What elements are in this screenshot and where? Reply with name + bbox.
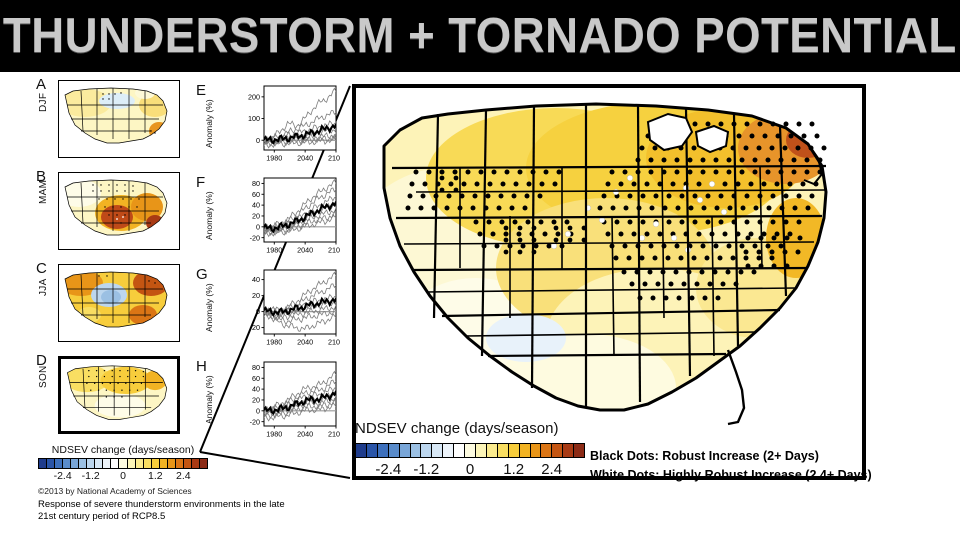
ts-ylabel-h: Anomaly (%) — [204, 375, 214, 424]
svg-text:20: 20 — [252, 291, 260, 300]
season-panel-mam[interactable]: B MAM — [36, 170, 186, 254]
timeseries-panel-g[interactable]: G Anomaly (%) -2002040198020402100 — [196, 260, 341, 352]
colorbar-tick-2: 0 — [120, 470, 126, 482]
colorbar-swatch-12 — [487, 444, 498, 457]
ts-plot-e: 0100200198020402100 — [234, 80, 340, 168]
colorbar-tick-1: -1.2 — [82, 470, 100, 482]
caption-line-2: 21st century period of RCP8.5 — [38, 511, 338, 523]
panel-letter-a: A — [36, 76, 46, 93]
colorbar-swatch-8 — [103, 459, 111, 468]
mini-map-jja[interactable] — [58, 264, 180, 342]
svg-text:80: 80 — [252, 363, 260, 372]
svg-text:20: 20 — [252, 396, 260, 405]
ts-letter-h: H — [196, 358, 207, 375]
colorbar-tick-1: -1.2 — [413, 461, 439, 478]
colorbar-swatch-6 — [421, 444, 432, 457]
colorbar-swatch-4 — [71, 459, 79, 468]
svg-text:40: 40 — [252, 201, 260, 210]
legend-black-dots: Black Dots: Robust Increase (2+ Days) — [590, 447, 920, 466]
colorbar-swatch-5 — [79, 459, 87, 468]
svg-text:2040: 2040 — [297, 430, 313, 439]
colorbar-swatch-18 — [552, 444, 563, 457]
svg-text:2040: 2040 — [297, 338, 313, 347]
small-colorbar: NDSEV change (days/season) -2.4-1.201.22… — [38, 444, 208, 484]
colorbar-swatch-18 — [184, 459, 192, 468]
legend-white-dots: White Dots: Highly Robust Increase (2.4+… — [590, 466, 920, 485]
colorbar-swatch-20 — [574, 444, 584, 457]
season-panel-djf[interactable]: A DJF — [36, 78, 186, 162]
small-colorbar-ticks: -2.4-1.201.22.4 — [38, 470, 208, 484]
usa-map-mam — [59, 173, 179, 249]
colorbar-swatch-1 — [367, 444, 378, 457]
svg-text:0: 0 — [256, 222, 260, 231]
panel-letter-c: C — [36, 260, 47, 277]
colorbar-swatch-9 — [111, 459, 119, 468]
colorbar-swatch-2 — [378, 444, 389, 457]
svg-text:20: 20 — [252, 212, 260, 221]
colorbar-swatch-15 — [160, 459, 168, 468]
colorbar-tick-0: -2.4 — [54, 470, 72, 482]
ts-letter-f: F — [196, 174, 205, 191]
svg-text:80: 80 — [252, 179, 260, 188]
colorbar-swatch-1 — [47, 459, 55, 468]
copyright-text: ©2013 by National Academy of Sciences — [38, 486, 338, 496]
season-label-son: SON — [38, 365, 49, 388]
colorbar-swatch-14 — [509, 444, 520, 457]
main-colorbar-strip — [355, 443, 585, 458]
colorbar-swatch-12 — [136, 459, 144, 468]
ts-plot-h: -20020406080198020402100 — [234, 356, 340, 444]
colorbar-swatch-17 — [541, 444, 552, 457]
colorbar-swatch-19 — [563, 444, 574, 457]
colorbar-swatch-19 — [192, 459, 200, 468]
svg-text:1980: 1980 — [266, 154, 282, 163]
colorbar-swatch-7 — [95, 459, 103, 468]
colorbar-swatch-16 — [531, 444, 542, 457]
svg-text:60: 60 — [252, 190, 260, 199]
colorbar-swatch-0 — [356, 444, 367, 457]
season-panel-jja[interactable]: C JJA — [36, 262, 186, 346]
small-colorbar-title: NDSEV change (days/season) — [38, 444, 208, 456]
page-title: THUNDERSTORM + TORNADO POTENTIAL — [3, 8, 957, 64]
colorbar-tick-3: 1.2 — [503, 461, 524, 478]
svg-text:1980: 1980 — [266, 430, 282, 439]
ts-plot-f: -20020406080198020402100 — [234, 172, 340, 260]
colorbar-swatch-4 — [400, 444, 411, 457]
colorbar-swatch-20 — [200, 459, 207, 468]
ts-ylabel-e: Anomaly (%) — [204, 99, 214, 148]
ts-ylabel-f: Anomaly (%) — [204, 191, 214, 240]
season-panel-son[interactable]: D SON — [36, 354, 186, 442]
usa-map-large — [356, 88, 862, 476]
svg-text:200: 200 — [248, 92, 260, 101]
colorbar-swatch-6 — [87, 459, 95, 468]
usa-map-djf — [59, 81, 179, 157]
colorbar-swatch-15 — [520, 444, 531, 457]
colorbar-swatch-14 — [152, 459, 160, 468]
colorbar-swatch-10 — [119, 459, 127, 468]
figure-body: A DJF — [0, 72, 960, 540]
colorbar-swatch-11 — [128, 459, 136, 468]
svg-text:-20: -20 — [250, 417, 260, 426]
mini-map-djf[interactable] — [58, 80, 180, 158]
svg-text:2040: 2040 — [297, 246, 313, 255]
colorbar-swatch-0 — [39, 459, 47, 468]
colorbar-swatch-10 — [465, 444, 476, 457]
caption-block: ©2013 by National Academy of Sciences Re… — [38, 486, 338, 523]
svg-text:100: 100 — [248, 114, 260, 123]
colorbar-swatch-13 — [144, 459, 152, 468]
svg-text:1980: 1980 — [266, 338, 282, 347]
svg-text:0: 0 — [256, 136, 260, 145]
colorbar-swatch-3 — [389, 444, 400, 457]
small-colorbar-strip — [38, 458, 208, 469]
svg-text:-20: -20 — [250, 323, 260, 332]
svg-text:60: 60 — [252, 374, 260, 383]
ts-ylabel-g: Anomaly (%) — [204, 283, 214, 332]
main-colorbar-title: NDSEV change (days/season) — [355, 420, 585, 437]
season-label-djf: DJF — [38, 93, 49, 112]
colorbar-swatch-9 — [454, 444, 465, 457]
colorbar-swatch-7 — [432, 444, 443, 457]
colorbar-tick-2: 0 — [466, 461, 474, 478]
title-banner: THUNDERSTORM + TORNADO POTENTIAL — [0, 0, 960, 72]
svg-text:2100: 2100 — [328, 338, 340, 347]
svg-text:2100: 2100 — [328, 246, 340, 255]
timeseries-panel-h[interactable]: H Anomaly (%) -20020406080198020402100 — [196, 352, 341, 444]
colorbar-tick-4: 2.4 — [541, 461, 562, 478]
svg-text:2040: 2040 — [297, 154, 313, 163]
season-label-jja: JJA — [38, 278, 49, 296]
timeseries-panel-e[interactable]: E Anomaly (%) 0100200198020402100 — [196, 76, 341, 168]
svg-text:1980: 1980 — [266, 246, 282, 255]
svg-text:2100: 2100 — [328, 430, 340, 439]
svg-text:0: 0 — [256, 307, 260, 316]
colorbar-swatch-17 — [176, 459, 184, 468]
colorbar-swatch-2 — [55, 459, 63, 468]
colorbar-tick-4: 2.4 — [176, 470, 191, 482]
dot-legend: Black Dots: Robust Increase (2+ Days) Wh… — [590, 447, 920, 486]
colorbar-swatch-11 — [476, 444, 487, 457]
svg-text:-20: -20 — [250, 233, 260, 242]
colorbar-swatch-5 — [411, 444, 422, 457]
caption-line-1: Response of severe thunderstorm environm… — [38, 499, 338, 511]
colorbar-swatch-3 — [63, 459, 71, 468]
usa-map-jja — [59, 265, 179, 341]
mini-map-mam[interactable] — [58, 172, 180, 250]
usa-map-son — [61, 359, 179, 433]
colorbar-swatch-13 — [498, 444, 509, 457]
ts-letter-e: E — [196, 82, 206, 99]
timeseries-panel-f[interactable]: F Anomaly (%) -20020406080198020402100 — [196, 168, 341, 260]
colorbar-swatch-8 — [443, 444, 454, 457]
svg-text:2100: 2100 — [328, 154, 340, 163]
colorbar-tick-3: 1.2 — [148, 470, 163, 482]
ts-plot-g: -2002040198020402100 — [234, 264, 340, 352]
mini-map-son[interactable] — [58, 356, 180, 434]
svg-text:0: 0 — [256, 406, 260, 415]
main-colorbar-ticks: -2.4-1.201.22.4 — [355, 461, 585, 481]
colorbar-swatch-16 — [168, 459, 176, 468]
svg-text:40: 40 — [252, 275, 260, 284]
main-colorbar: NDSEV change (days/season) -2.4-1.201.22… — [355, 420, 585, 481]
svg-text:40: 40 — [252, 385, 260, 394]
season-label-mam: MAM — [38, 180, 49, 204]
ts-letter-g: G — [196, 266, 208, 283]
colorbar-tick-0: -2.4 — [375, 461, 401, 478]
